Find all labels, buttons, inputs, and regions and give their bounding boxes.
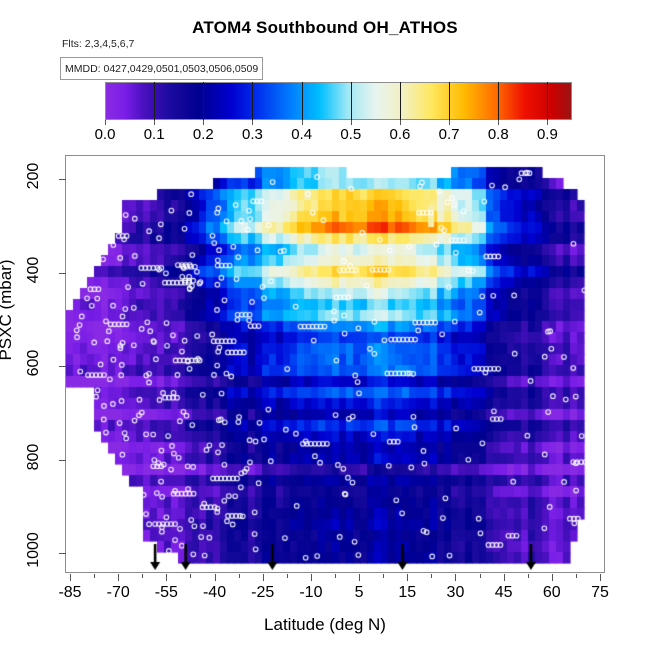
x-axis-tick bbox=[504, 574, 505, 581]
x-axis-tick bbox=[455, 574, 456, 581]
heatmap-canvas bbox=[66, 156, 604, 572]
x-axis-minor-tick bbox=[335, 574, 336, 578]
x-axis-minor-tick bbox=[431, 574, 432, 578]
colorbar-tick-label: 0.4 bbox=[282, 126, 322, 143]
colorbar-tick-label: 0.7 bbox=[429, 126, 469, 143]
x-axis-tick bbox=[407, 574, 408, 581]
y-axis-tick bbox=[59, 460, 66, 461]
colorbar-tick bbox=[154, 120, 155, 125]
colorbar-tick-line bbox=[351, 82, 352, 120]
colorbar-tick bbox=[302, 120, 303, 125]
x-axis-minor-tick bbox=[142, 574, 143, 578]
x-axis-minor-tick bbox=[287, 574, 288, 578]
x-axis-tick bbox=[118, 574, 119, 581]
y-axis-title: PSXC (mbar) bbox=[0, 235, 16, 385]
colorbar-tick bbox=[351, 120, 352, 125]
x-axis-minor-tick bbox=[528, 574, 529, 578]
x-axis-minor-tick bbox=[190, 574, 191, 578]
colorbar-tick-line bbox=[154, 82, 155, 120]
x-axis-minor-tick bbox=[576, 574, 577, 578]
page-title: ATOM4 Southbound OH_ATHOS bbox=[0, 18, 650, 38]
colorbar-tick bbox=[105, 120, 106, 125]
colorbar-tick bbox=[449, 120, 450, 125]
colorbar-tick bbox=[203, 120, 204, 125]
y-axis-tick-label: 800 bbox=[25, 435, 43, 479]
x-axis-tick bbox=[552, 574, 553, 581]
colorbar-gradient bbox=[105, 82, 572, 120]
x-axis-minor-tick bbox=[239, 574, 240, 578]
colorbar-tick bbox=[252, 120, 253, 125]
flights-annotation: Flts: 2,3,4,5,6,7 bbox=[62, 38, 134, 50]
colorbar-tick-label: 0.9 bbox=[527, 126, 567, 143]
colorbar-tick-line bbox=[252, 82, 253, 120]
colorbar: 0.00.10.20.30.40.50.60.70.80.9 bbox=[105, 82, 572, 120]
colorbar-tick-label: 0.6 bbox=[380, 126, 420, 143]
colorbar-tick-label: 0.1 bbox=[134, 126, 174, 143]
x-axis-tick bbox=[70, 574, 71, 581]
colorbar-tick-line bbox=[498, 82, 499, 120]
colorbar-tick-line bbox=[302, 82, 303, 120]
y-axis-tick-label: 600 bbox=[25, 341, 43, 385]
y-axis-tick-label: 200 bbox=[25, 154, 43, 198]
x-axis-tick bbox=[600, 574, 601, 581]
plot-area: 2004006008001000-85-70-55-40-25-10515304… bbox=[65, 155, 605, 573]
x-axis-title: Latitude (deg N) bbox=[0, 615, 650, 635]
colorbar-tick-label: 0.5 bbox=[331, 126, 371, 143]
x-axis-tick bbox=[215, 574, 216, 581]
x-axis-tick-label: 75 bbox=[572, 584, 628, 602]
x-axis-minor-tick bbox=[383, 574, 384, 578]
x-axis-minor-tick bbox=[480, 574, 481, 578]
x-axis-tick bbox=[311, 574, 312, 581]
y-axis-tick-label: 400 bbox=[25, 248, 43, 292]
x-axis-minor-tick bbox=[94, 574, 95, 578]
colorbar-tick-line bbox=[203, 82, 204, 120]
colorbar-tick-label: 0.2 bbox=[183, 126, 223, 143]
y-axis-tick bbox=[59, 179, 66, 180]
colorbar-tick-label: 0.0 bbox=[85, 126, 125, 143]
colorbar-tick bbox=[547, 120, 548, 125]
colorbar-tick bbox=[400, 120, 401, 125]
colorbar-tick-line bbox=[400, 82, 401, 120]
colorbar-tick-line bbox=[547, 82, 548, 120]
x-axis-tick bbox=[166, 574, 167, 581]
y-axis-tick bbox=[59, 366, 66, 367]
y-axis-tick-label: 1000 bbox=[25, 528, 43, 572]
mmdd-annotation-label: MMDD: 0427,0429,0501,0503,0506,0509 bbox=[65, 63, 258, 75]
y-axis-tick bbox=[59, 553, 66, 554]
colorbar-tick-label: 0.8 bbox=[478, 126, 518, 143]
colorbar-tick-label: 0.3 bbox=[232, 126, 272, 143]
x-axis-tick bbox=[359, 574, 360, 581]
colorbar-tick bbox=[498, 120, 499, 125]
y-axis-tick bbox=[59, 273, 66, 274]
x-axis-tick bbox=[263, 574, 264, 581]
mmdd-annotation-box: MMDD: 0427,0429,0501,0503,0506,0509 bbox=[60, 57, 263, 80]
colorbar-tick-line bbox=[449, 82, 450, 120]
